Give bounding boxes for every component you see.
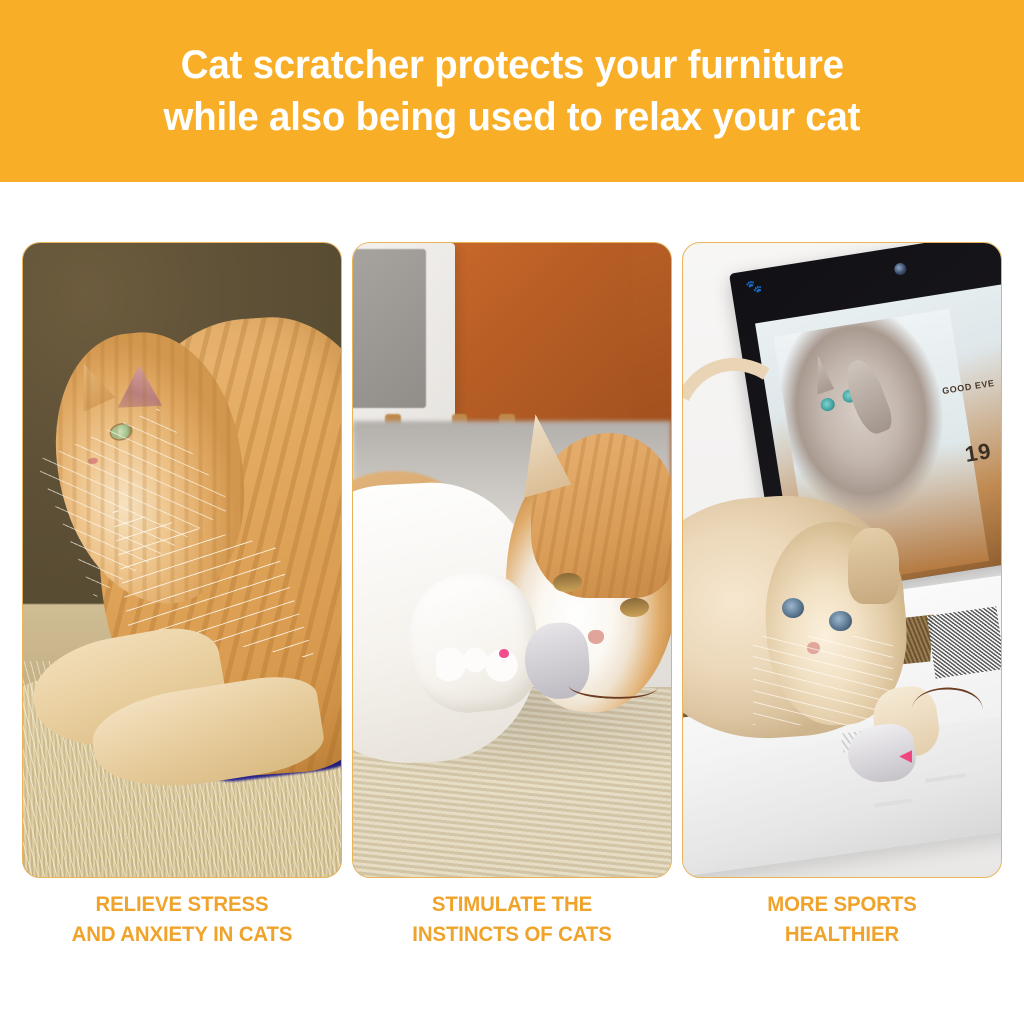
caption-line-2: HEALTHIER xyxy=(687,920,997,950)
paw-print-icon: 🐾 xyxy=(745,279,763,294)
kitten-whiskers xyxy=(753,636,893,725)
panel-more-sports: 🐾 GOOD EVE 19 HOW CAN W H xyxy=(682,242,1002,878)
printed-trackpad xyxy=(927,606,1001,679)
header-line-2: while also being used to relax your cat xyxy=(164,91,861,143)
caption-line-2: AND ANXIETY IN CATS xyxy=(27,920,337,950)
kitten-ear xyxy=(848,528,899,604)
panel-stimulate-instincts xyxy=(352,242,672,878)
panel-relieve-stress xyxy=(22,242,342,878)
screen-time-text: 19 xyxy=(963,438,993,468)
caption-line-1: STIMULATE THE xyxy=(357,890,667,920)
camera-icon xyxy=(893,263,907,277)
speaker-grill xyxy=(353,249,426,408)
panel-row: 🐾 GOOD EVE 19 HOW CAN W H xyxy=(22,242,1002,878)
photo-cat-with-toy-mouse xyxy=(353,243,671,877)
caption-row: RELIEVE STRESS AND ANXIETY IN CATS STIMU… xyxy=(22,890,1002,970)
header-line-1: Cat scratcher protects your furniture xyxy=(181,39,844,91)
caption-line-1: RELIEVE STRESS xyxy=(27,890,337,920)
header-banner: Cat scratcher protects your furniture wh… xyxy=(0,0,1024,182)
infographic-page: Cat scratcher protects your furniture wh… xyxy=(0,0,1024,1024)
caption-stimulate-instincts: STIMULATE THE INSTINCTS OF CATS xyxy=(357,890,667,970)
cat-ear-right xyxy=(114,363,163,414)
caption-line-1: MORE SPORTS xyxy=(687,890,997,920)
caption-more-sports: MORE SPORTS HEALTHIER xyxy=(687,890,997,970)
photo-kitten-on-laptop-scratcher: 🐾 GOOD EVE 19 HOW CAN W H xyxy=(683,243,1001,877)
cat-ear-left xyxy=(68,358,117,412)
toy-mouse-nose xyxy=(499,649,509,658)
screen-cat-ear xyxy=(807,354,834,395)
cat-toes xyxy=(436,636,519,693)
caption-line-2: INSTINCTS OF CATS xyxy=(357,920,667,950)
kitten-eye-left xyxy=(782,598,804,618)
kitten-eye-right xyxy=(829,611,851,631)
cat-nose xyxy=(588,630,604,644)
screen-cat-eye-left xyxy=(819,398,835,413)
photo-ginger-cat-on-scratcher xyxy=(23,243,341,877)
caption-relieve-stress: RELIEVE STRESS AND ANXIETY IN CATS xyxy=(27,890,337,970)
